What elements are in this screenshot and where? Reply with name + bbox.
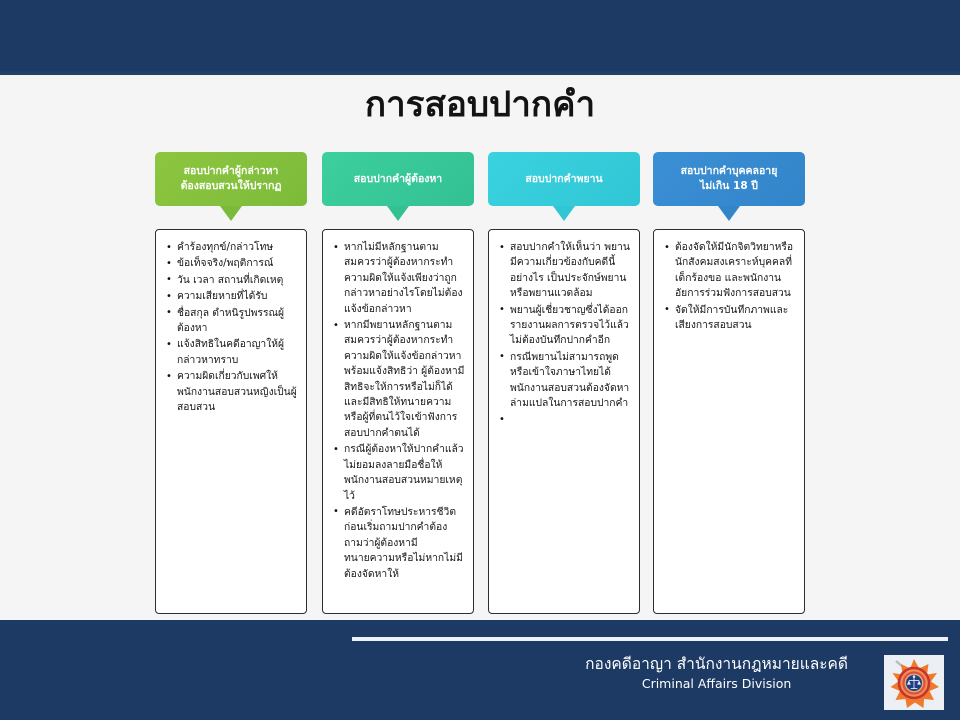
list-item: กรณีพยานไม่สามารถพูดหรือเข้าใจภาษาไทยได้…	[510, 350, 632, 412]
column-4-header-line2: ไม่เกิน 18 ปี	[700, 180, 758, 192]
list-item: วัน เวลา สถานที่เกิดเหตุ	[177, 273, 299, 288]
column-3: สอบปากคำพยาน สอบปากคำให้เห็นว่า พยานมีคว…	[488, 152, 640, 614]
column-2-header-label: สอบปากคำผู้ต้องหา	[354, 172, 442, 187]
top-navy-band	[0, 0, 960, 75]
list-item: ต้องจัดให้มีนักจิตวิทยาหรือนักสังคมสงเคร…	[675, 240, 797, 302]
column-1-list: คำร้องทุกข์/กล่าวโทษ ข้อเท็จจริง/พฤติการ…	[162, 240, 299, 415]
list-item: หากไม่มีหลักฐานตามสมควรว่าผู้ต้องหากระทำ…	[344, 240, 466, 317]
list-item: แจ้งสิทธิในคดีอาญาให้ผู้กล่าวหาทราบ	[177, 337, 299, 368]
royal-thai-police-legal-affairs-emblem-icon	[884, 655, 944, 710]
list-item: พยานผู้เชี่ยวชาญซึ่งได้ออกรายงานผลการตรว…	[510, 303, 632, 349]
column-4-header-line1: สอบปากคำบุคคลอายุ	[681, 165, 778, 177]
footer-divider-rule	[352, 637, 948, 641]
column-2-arrow-icon	[387, 206, 409, 221]
page-title: การสอบปากคำ	[0, 82, 960, 128]
column-1-panel: คำร้องทุกข์/กล่าวโทษ ข้อเท็จจริง/พฤติการ…	[155, 229, 307, 614]
list-item: กรณีผู้ต้องหาให้ปากคำแล้วไม่ยอมลงลายมือช…	[344, 442, 466, 504]
column-4-header-chip[interactable]: สอบปากคำบุคคลอายุ ไม่เกิน 18 ปี	[653, 152, 805, 206]
column-4: สอบปากคำบุคคลอายุ ไม่เกิน 18 ปี ต้องจัดใ…	[653, 152, 805, 614]
column-3-list: สอบปากคำให้เห็นว่า พยานมีความเกี่ยวข้องก…	[495, 240, 632, 427]
list-item: ความผิดเกี่ยวกับเพศให้พนักงานสอบสวนหญิงเ…	[177, 369, 299, 415]
list-item: คำร้องทุกข์/กล่าวโทษ	[177, 240, 299, 255]
footer-english-label: Criminal Affairs Division	[585, 675, 848, 693]
list-item: จัดให้มีการบันทึกภาพและเสียงการสอบสวน	[675, 303, 797, 334]
list-item: ความเสียหายที่ได้รับ	[177, 289, 299, 304]
column-3-arrow-icon	[553, 206, 575, 221]
list-item: ชื่อสกุล ตำหนิรูปพรรณผู้ต้องหา	[177, 306, 299, 337]
list-item: สอบปากคำให้เห็นว่า พยานมีความเกี่ยวข้องก…	[510, 240, 632, 302]
column-1-header-chip[interactable]: สอบปากคำผู้กล่าวหา ต้องสอบสวนให้ปรากฏ	[155, 152, 307, 206]
list-item: ข้อเท็จจริง/พฤติการณ์	[177, 256, 299, 271]
top-navy-band-edge	[0, 71, 960, 75]
column-1-arrow-icon	[220, 206, 242, 221]
list-item-empty	[510, 412, 632, 427]
list-item: คดีอัตราโทษประหารชีวิตก่อนเริ่มถามปากคำต…	[344, 505, 466, 582]
column-4-panel: ต้องจัดให้มีนักจิตวิทยาหรือนักสังคมสงเคร…	[653, 229, 805, 614]
column-2-header-chip[interactable]: สอบปากคำผู้ต้องหา	[322, 152, 474, 206]
footer-thai-label: กองคดีอาญา สำนักงานกฎหมายและคดี	[585, 654, 848, 675]
column-3-header-label: สอบปากคำพยาน	[525, 172, 602, 187]
column-1-header-line1: สอบปากคำผู้กล่าวหา	[184, 165, 279, 177]
column-2-list: หากไม่มีหลักฐานตามสมควรว่าผู้ต้องหากระทำ…	[329, 240, 466, 582]
column-1-header-label: สอบปากคำผู้กล่าวหา ต้องสอบสวนให้ปรากฏ	[181, 164, 282, 194]
columns-container: สอบปากคำผู้กล่าวหา ต้องสอบสวนให้ปรากฏ คำ…	[155, 152, 805, 614]
bottom-navy-band: กองคดีอาญา สำนักงานกฎหมายและคดี Criminal…	[0, 620, 960, 720]
column-1: สอบปากคำผู้กล่าวหา ต้องสอบสวนให้ปรากฏ คำ…	[155, 152, 307, 614]
column-4-header-label: สอบปากคำบุคคลอายุ ไม่เกิน 18 ปี	[681, 164, 778, 194]
column-1-header-line2: ต้องสอบสวนให้ปรากฏ	[181, 180, 282, 192]
footer-text-block: กองคดีอาญา สำนักงานกฎหมายและคดี Criminal…	[585, 654, 848, 693]
column-4-list: ต้องจัดให้มีนักจิตวิทยาหรือนักสังคมสงเคร…	[660, 240, 797, 333]
column-3-header-chip[interactable]: สอบปากคำพยาน	[488, 152, 640, 206]
column-4-arrow-icon	[718, 206, 740, 221]
list-item: หากมีพยานหลักฐานตามสมควรว่าผู้ต้องหากระท…	[344, 318, 466, 441]
column-3-panel: สอบปากคำให้เห็นว่า พยานมีความเกี่ยวข้องก…	[488, 229, 640, 614]
column-2-panel: หากไม่มีหลักฐานตามสมควรว่าผู้ต้องหากระทำ…	[322, 229, 474, 614]
column-2: สอบปากคำผู้ต้องหา หากไม่มีหลักฐานตามสมคว…	[322, 152, 474, 614]
